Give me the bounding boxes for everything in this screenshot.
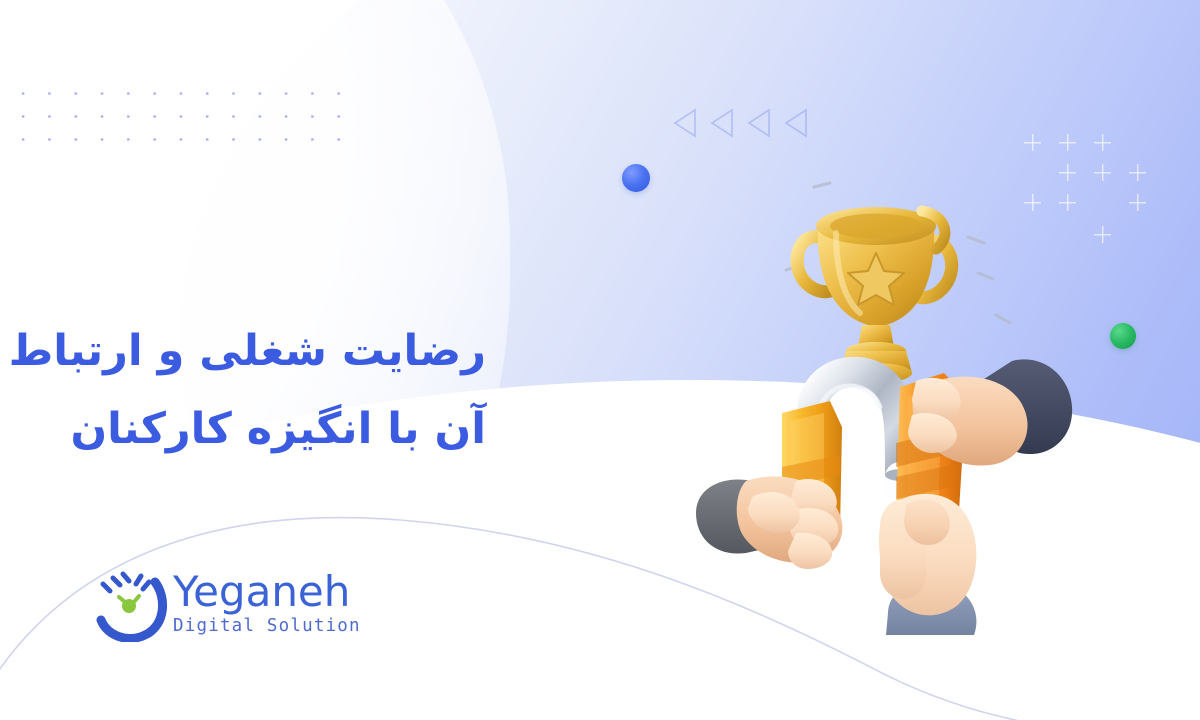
- brand-name: Yeganeh: [173, 570, 361, 614]
- hand-left-icon: [696, 476, 842, 569]
- dot-grid-decoration: [4, 78, 348, 150]
- brand-logo-text: Yeganeh Digital Solution: [173, 570, 361, 637]
- trophy-icon: [797, 207, 952, 383]
- triangle-left-icon: [672, 108, 698, 138]
- triangle-left-icon: [783, 108, 809, 138]
- triangle-left-icon: [746, 108, 772, 138]
- plus-sparkle-icon: [1129, 164, 1146, 181]
- illustration-svg: [690, 175, 1110, 635]
- blue-sphere-decoration: [622, 164, 650, 192]
- plus-sparkle-icon: [1094, 134, 1111, 151]
- hand-right-icon: [908, 359, 1072, 465]
- triangle-row-decoration: [672, 108, 809, 138]
- brand-tagline: Digital Solution: [173, 615, 361, 637]
- page-title: رضایت شغلی و ارتباط آن با انگیزه کارکنان: [0, 312, 500, 468]
- hero-illustration-3d: [690, 175, 1110, 635]
- headline-line-1: رضایت شغلی و ارتباط: [0, 312, 486, 390]
- plus-sparkle-icon: [1059, 134, 1076, 151]
- plus-sparkle-icon: [1129, 194, 1146, 211]
- brand-logo[interactable]: Yeganeh Digital Solution: [95, 562, 361, 642]
- headline-line-2: آن با انگیزه کارکنان: [0, 390, 486, 468]
- promo-banner: رضایت شغلی و ارتباط آن با انگیزه کارکنان: [0, 0, 1200, 720]
- hand-bottom-icon: [879, 494, 976, 635]
- triangle-left-icon: [709, 108, 735, 138]
- green-sphere-decoration: [1110, 323, 1136, 349]
- plus-sparkle-icon: [1024, 134, 1041, 151]
- yeganeh-logo-mark-icon: [95, 562, 169, 642]
